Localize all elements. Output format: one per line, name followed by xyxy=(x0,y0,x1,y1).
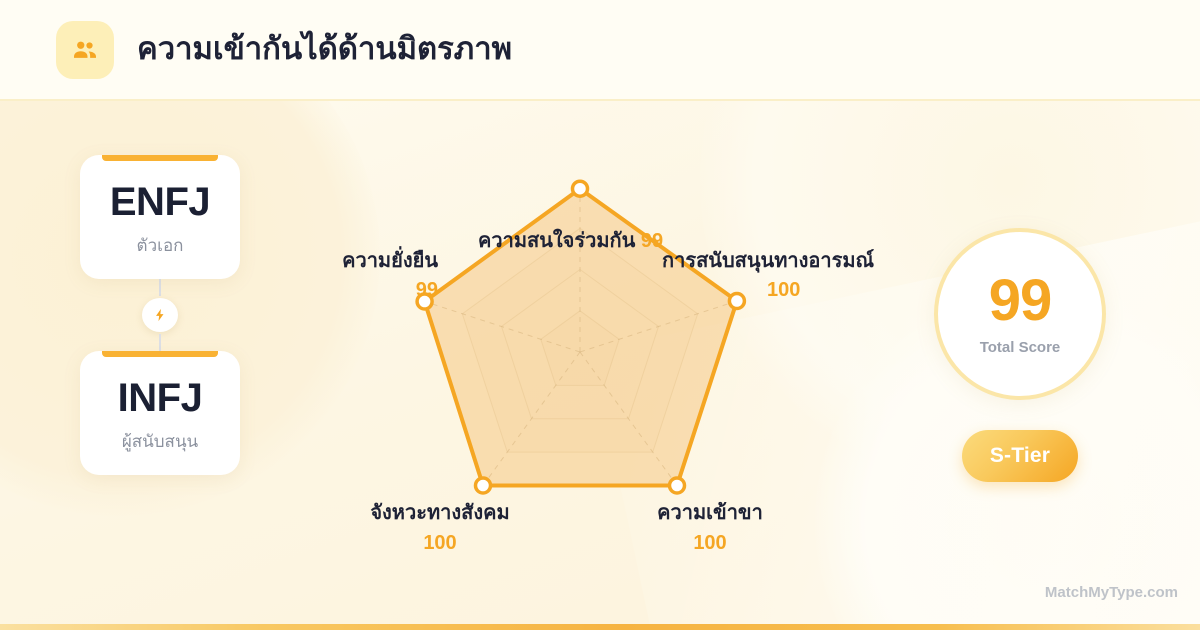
radar-axis-value-1: 100 xyxy=(767,278,874,303)
radar-chart: ความสนใจร่วมกัน 99 การสนับสนุนทางอารมณ์ … xyxy=(310,101,870,624)
radar-axis-label-2: ความเข้าขา 100 xyxy=(630,501,790,556)
connector-line-top xyxy=(159,279,161,296)
total-score-circle: 99 Total Score xyxy=(934,228,1106,400)
watermark: MatchMyType.com xyxy=(1045,584,1178,601)
card-accent-bar xyxy=(102,351,218,357)
type-connector xyxy=(80,279,240,351)
radar-axis-value-3: 100 xyxy=(350,531,530,556)
personality-types-panel: ENFJ ตัวเอก INFJ ผู้สนับสนุน xyxy=(80,155,240,475)
total-score-value: 99 xyxy=(989,272,1052,330)
tier-badge[interactable]: S-Tier xyxy=(962,430,1078,482)
connector-line-bottom xyxy=(159,334,161,351)
type-card-first[interactable]: ENFJ ตัวเอก xyxy=(80,155,240,279)
type-card-second[interactable]: INFJ ผู้สนับสนุน xyxy=(80,351,240,475)
radar-axis-text-2: ความเข้าขา xyxy=(657,502,763,524)
type-code-second: INFJ xyxy=(90,377,230,419)
bottom-accent-bar xyxy=(0,624,1200,630)
radar-axis-value-0: 99 xyxy=(641,230,663,252)
type-name-second: ผู้สนับสนุน xyxy=(90,428,230,455)
type-code-first: ENFJ xyxy=(90,181,230,223)
card-accent-bar xyxy=(102,155,218,161)
radar-axis-value-2: 100 xyxy=(630,531,790,556)
radar-axis-text-0: ความสนใจร่วมกัน xyxy=(478,230,635,252)
radar-axis-text-1: การสนับสนุนทางอารมณ์ xyxy=(662,250,874,272)
page-title: ความเข้ากันได้ด้านมิตรภาพ xyxy=(137,32,512,66)
radar-axis-label-3: จังหวะทางสังคม 100 xyxy=(350,501,530,556)
group-people-icon xyxy=(56,21,114,79)
tier-badge-label: S-Tier xyxy=(990,444,1050,468)
radar-axis-label-1: การสนับสนุนทางอารมณ์ 100 xyxy=(662,249,874,303)
radar-axis-label-0: ความสนใจร่วมกัน 99 xyxy=(478,229,663,254)
radar-axis-text-4: ความยั่งยืน xyxy=(342,250,438,272)
radar-axis-text-3: จังหวะทางสังคม xyxy=(370,502,509,524)
header-bar: ความเข้ากันได้ด้านมิตรภาพ xyxy=(0,0,1200,101)
radar-axis-label-4: ความยั่งยืน 99 xyxy=(314,249,438,303)
type-name-first: ตัวเอก xyxy=(90,232,230,259)
total-score-caption: Total Score xyxy=(980,339,1061,356)
lightning-bolt-icon xyxy=(142,298,178,332)
radar-axis-value-4: 99 xyxy=(314,278,438,303)
compatibility-card: ความเข้ากันได้ด้านมิตรภาพ ENFJ ตัวเอก IN… xyxy=(0,0,1200,630)
